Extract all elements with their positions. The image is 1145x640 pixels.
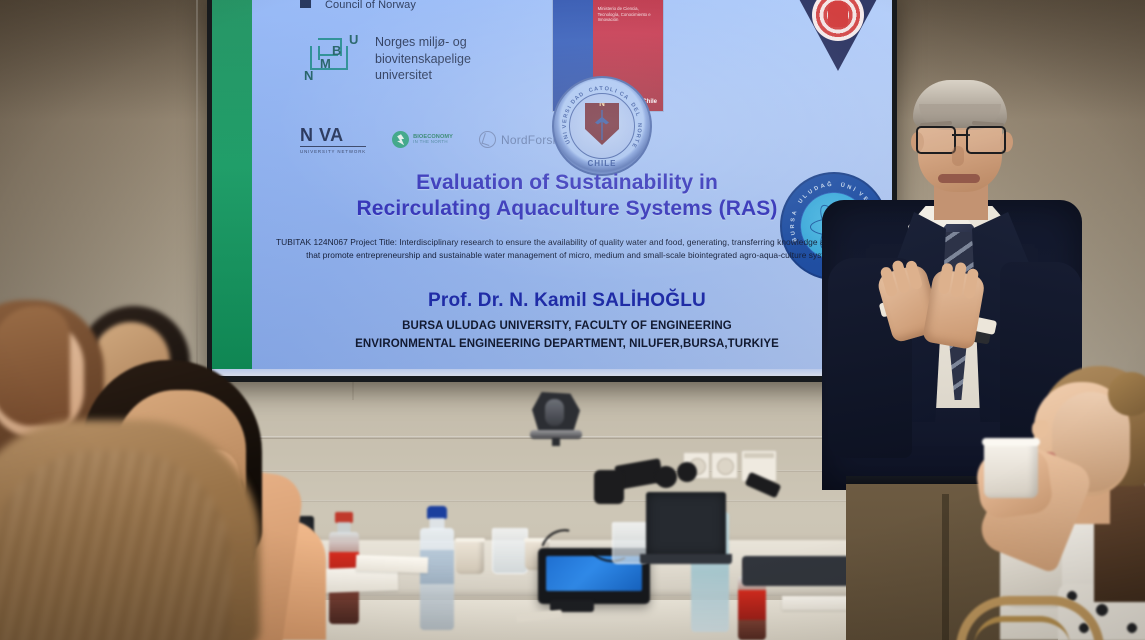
slide-title-line1: Evaluation of Sustainability in [252, 170, 882, 196]
slide-logo-band: The Research Council of Norway [252, 0, 892, 170]
slide-affiliation-line2: ENVIRONMENTAL ENGINEERING DEPARTMENT, NI… [252, 336, 882, 354]
camera-lens-icon [545, 399, 564, 426]
laptop[interactable] [640, 492, 732, 572]
bioeconomy-label-line2: IN THE NORTH [413, 140, 453, 145]
presenter-nose [952, 146, 964, 166]
slide-subtitle: TUBITAK 124N067 Project Title: Interdisc… [268, 236, 878, 261]
nmbu-label-line2: biovitenskapelige [375, 51, 471, 68]
camera-mount-stem [552, 438, 560, 446]
presenter-mouth [938, 174, 980, 183]
wall-mounted-display[interactable]: The Research Council of Norway [207, 0, 897, 382]
paper-sheet[interactable] [356, 555, 429, 574]
nmbu-label-line1: Norges miljø- og [375, 34, 471, 51]
tubitak-mark-icon [780, 0, 892, 75]
bioeconomy-in-the-north-logo: BIOECONOMY IN THE NORTH [392, 131, 453, 148]
rcn-mark-icon [300, 0, 319, 8]
nordforsk-mark-icon [479, 131, 496, 148]
plug-round [655, 466, 677, 488]
slide-title-line2: Recirculating Aquaculture Systems (RAS) [252, 196, 882, 222]
attendee-hair-front [0, 306, 70, 426]
nova-tagline: UNIVERSITY NETWORK [300, 146, 366, 154]
presenter-hair [913, 80, 1007, 128]
display-screen: The Research Council of Norway [212, 0, 892, 376]
nova-wordmark: N VA [300, 126, 344, 144]
nmbu-label-line3: universitet [375, 67, 471, 84]
slide-presenter-name: Prof. Dr. N. Kamil SALİHOĞLU [252, 290, 882, 312]
seal-ring-text: UNIVERSIDAD CATOLICA DEL NORTE [554, 78, 650, 174]
slide-affiliation: BURSA ULUDAG UNIVERSITY, FACULTY OF ENGI… [252, 318, 882, 354]
paper-coffee-cup[interactable] [984, 440, 1038, 498]
drinking-glass[interactable] [492, 528, 528, 574]
presentation-slide: The Research Council of Norway [212, 0, 892, 376]
plug-round [677, 462, 697, 482]
plug-block [594, 470, 624, 504]
nmbu-letters: N M B U [304, 32, 362, 86]
research-council-of-norway-logo: The Research Council of Norway [300, 0, 416, 11]
attendee-hair [0, 420, 260, 640]
paper-coffee-cup[interactable] [456, 538, 484, 574]
chair-slat [974, 616, 1070, 640]
conference-room-scene: The Research Council of Norway [0, 0, 1145, 640]
attendee-nose [1032, 420, 1048, 438]
universidad-catolica-del-norte-seal: N CHILE UNIVERSIDAD CATOLICA DEL NORTE [552, 76, 652, 176]
tubitak-logo: Research Council of Türkiye [780, 0, 892, 86]
nordforsk-wordmark: NordForsk [501, 133, 559, 147]
nmbu-logo: N M B U Norges miljø- og biovitenskapeli… [304, 32, 471, 86]
slide-title: Evaluation of Sustainability in Recircul… [252, 170, 882, 223]
anid-ministry-line: Ministerio de Ciencia, Tecnología, Conoc… [598, 6, 658, 22]
slide-affiliation-line1: BURSA ULUDAG UNIVERSITY, FACULTY OF ENGI… [252, 318, 882, 336]
rcn-label-line2: Council of Norway [325, 0, 416, 11]
slide-bottom-strip [212, 369, 892, 376]
nordforsk-logo: NordForsk [479, 131, 559, 148]
nova-logo: N VA UNIVERSITY NETWORK [300, 126, 366, 154]
bioeconomy-leaf-icon [392, 131, 409, 148]
power-socket[interactable] [711, 452, 738, 479]
nmbu-mark-icon: N M B U [304, 32, 362, 86]
slide-accent-bar [212, 0, 252, 376]
partner-logo-row: N VA UNIVERSITY NETWORK BIOECONOMY IN TH… [300, 126, 559, 154]
ptz-conference-camera[interactable] [528, 392, 584, 446]
